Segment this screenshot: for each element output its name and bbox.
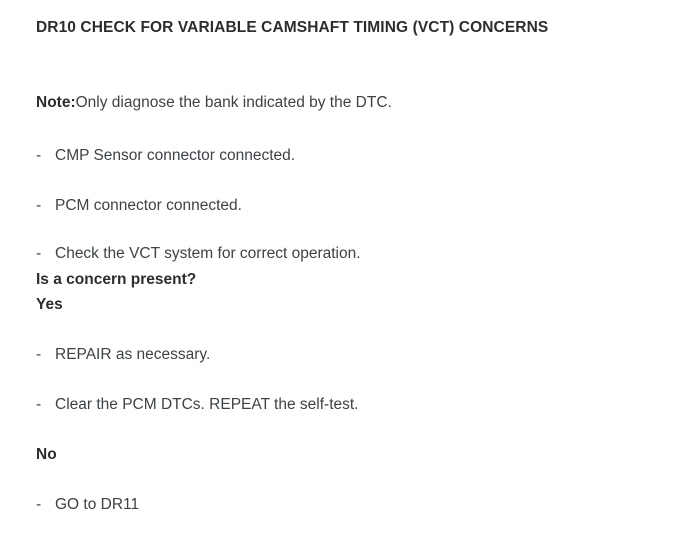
list-item: -PCM connector connected. (36, 196, 242, 216)
list-item: -REPAIR as necessary. (36, 345, 210, 365)
list-item: -Check the VCT system for correct operat… (36, 244, 361, 264)
page-title: DR10 CHECK FOR VARIABLE CAMSHAFT TIMING … (36, 18, 656, 38)
list-item-label: Clear the PCM DTCs. REPEAT the self-test… (55, 396, 358, 413)
note-line: Note:Only diagnose the bank indicated by… (36, 93, 392, 113)
list-item: -Clear the PCM DTCs. REPEAT the self-tes… (36, 395, 358, 415)
bullet-dash-icon: - (36, 345, 55, 365)
list-item-label: REPAIR as necessary. (55, 346, 210, 363)
diagnostic-procedure-page: DR10 CHECK FOR VARIABLE CAMSHAFT TIMING … (0, 0, 688, 533)
bullet-dash-icon: - (36, 196, 55, 216)
note-text: Only diagnose the bank indicated by the … (76, 94, 392, 111)
list-item-label: GO to DR11 (55, 496, 139, 513)
branch-label-yes: Yes (36, 295, 63, 315)
list-item: -CMP Sensor connector connected. (36, 146, 295, 166)
note-label: Note: (36, 94, 76, 111)
bullet-dash-icon: - (36, 146, 55, 166)
list-item: -GO to DR11 (36, 495, 139, 515)
bullet-dash-icon: - (36, 495, 55, 515)
bullet-dash-icon: - (36, 395, 55, 415)
list-item-label: CMP Sensor connector connected. (55, 147, 295, 164)
list-item-label: Check the VCT system for correct operati… (55, 245, 361, 262)
branch-label-no: No (36, 445, 57, 465)
list-item-label: PCM connector connected. (55, 197, 242, 214)
decision-question: Is a concern present? (36, 270, 196, 290)
bullet-dash-icon: - (36, 244, 55, 264)
